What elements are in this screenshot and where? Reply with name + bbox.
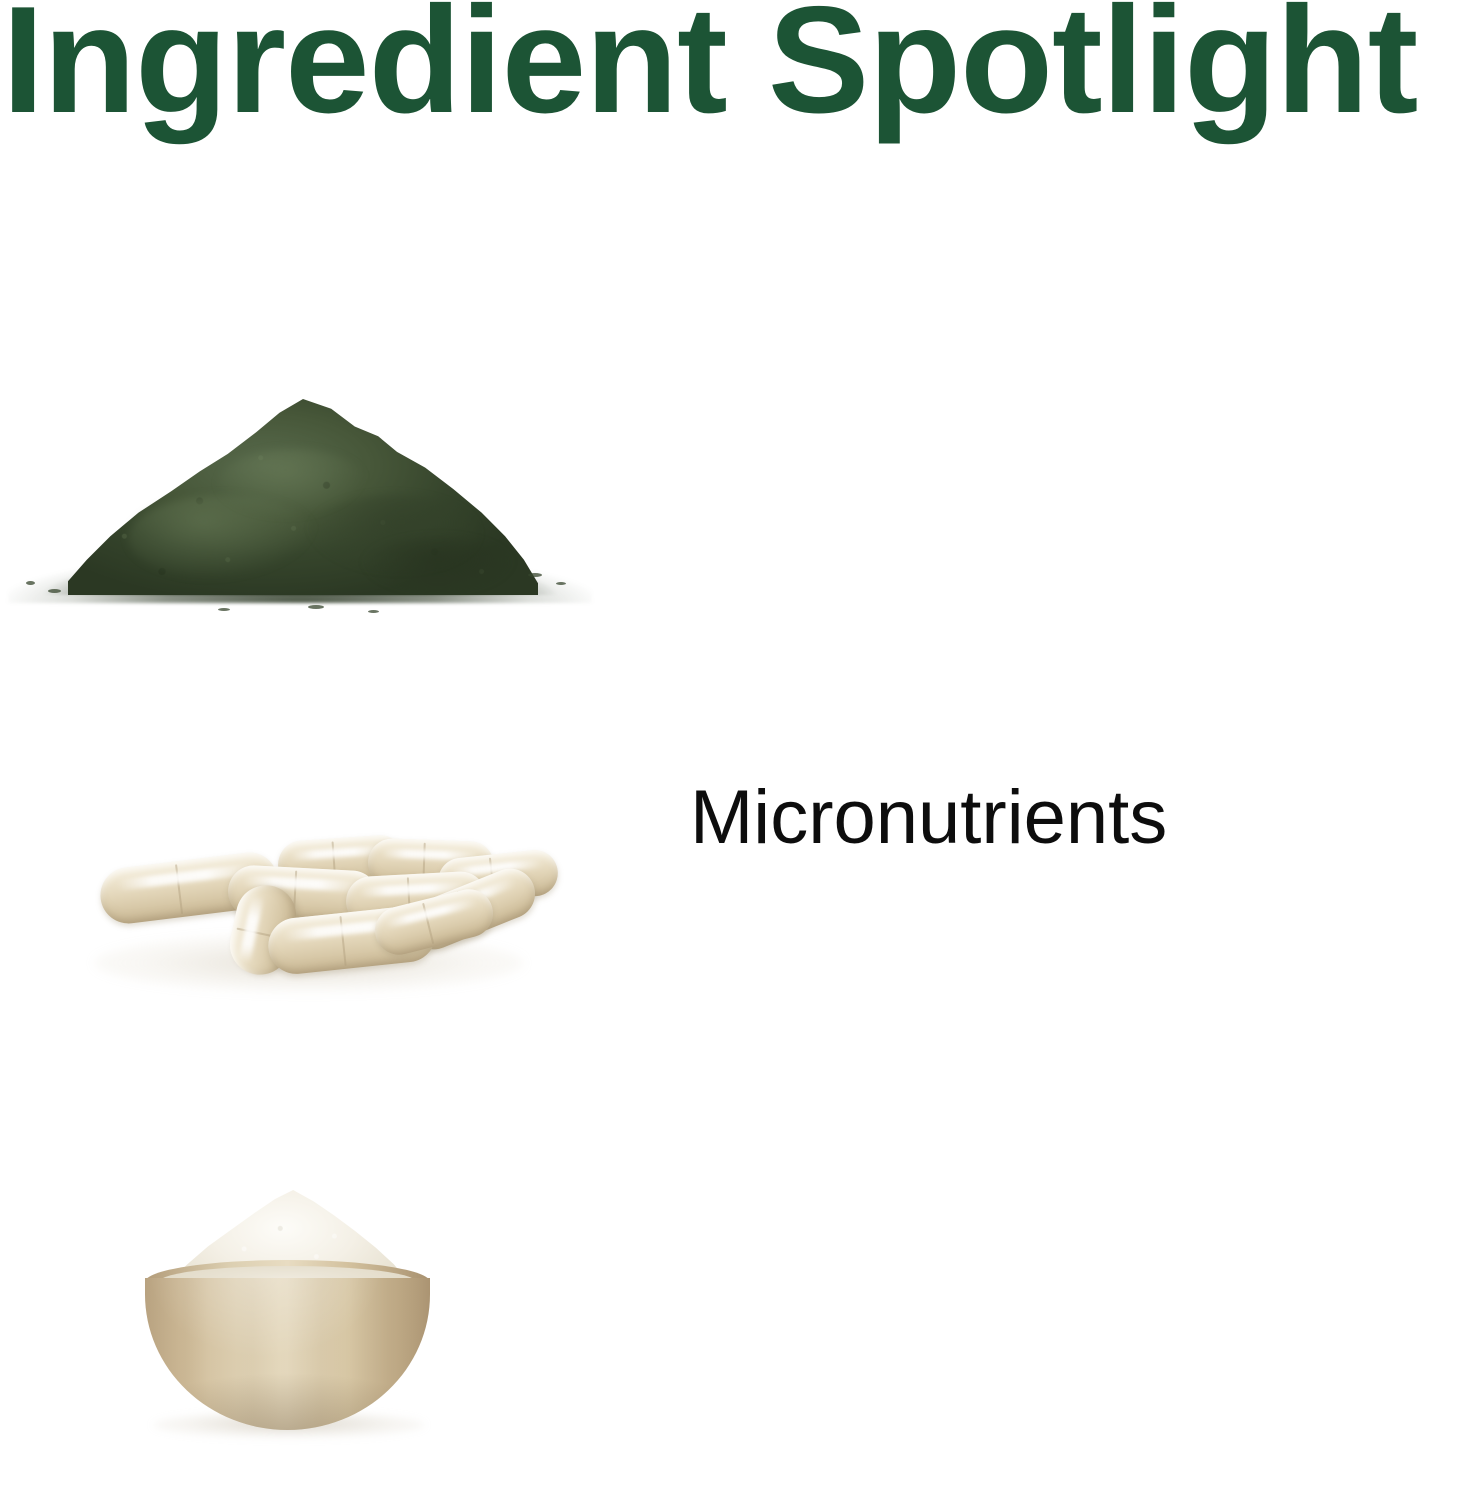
feature-row-micronutrients: Micronutrients xyxy=(0,330,1475,630)
powder-speck xyxy=(528,573,542,577)
capsule-pile-graphic xyxy=(100,838,520,1003)
powder-lump xyxy=(363,537,513,593)
ingredient-spotlight-panel: Ingredient Spotlight Micronu xyxy=(0,0,1475,1500)
spirulina-mound-graphic xyxy=(8,380,592,615)
probiotic-capsules-image xyxy=(0,790,640,1050)
powder-speck xyxy=(218,608,230,611)
spirulina-powder-mound-image xyxy=(0,330,640,630)
feature-row-probiotics: 25 billion probiotics xyxy=(0,790,1475,1050)
powder-speck xyxy=(556,582,566,585)
bowl-body xyxy=(145,1278,430,1430)
powder-speck xyxy=(26,581,35,585)
powder-speck xyxy=(368,610,379,613)
wooden-bowl-graphic xyxy=(145,1190,430,1445)
powder-bowl-image xyxy=(0,1170,640,1470)
page-title: Ingredient Spotlight xyxy=(2,0,1475,138)
powder-speck xyxy=(48,589,61,593)
powder-speck xyxy=(308,605,324,609)
feature-row-prebiotics-enzymes: Prebiotics and digestive enzymes xyxy=(0,1170,1475,1470)
bowl-shading xyxy=(145,1278,430,1430)
powder-lump xyxy=(218,449,368,519)
